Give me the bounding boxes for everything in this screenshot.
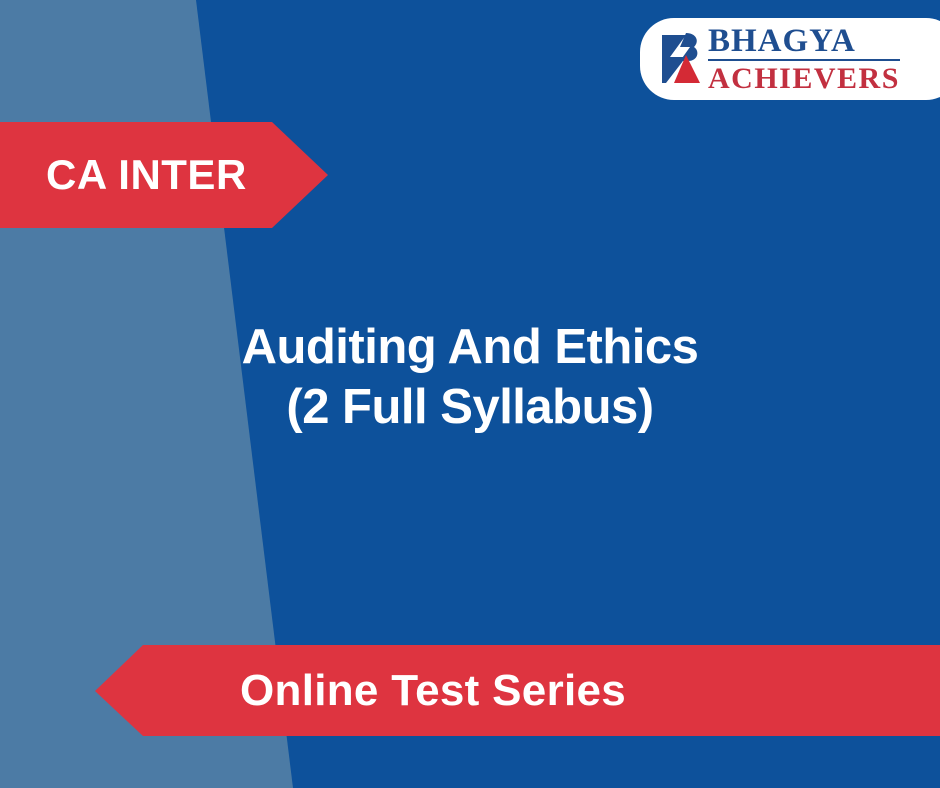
brand-logo: BHAGYA ACHIEVERS (640, 18, 940, 100)
brand-name-secondary: ACHIEVERS (708, 64, 900, 94)
page-title-line-2: (2 Full Syllabus) (180, 378, 760, 438)
product-type-label: Online Test Series (95, 666, 626, 716)
bhagya-achievers-monogram-icon (656, 31, 704, 87)
course-level-ribbon: CA INTER (0, 122, 328, 228)
brand-name-primary: BHAGYA (708, 25, 900, 61)
page-title: Auditing And Ethics (2 Full Syllabus) (180, 318, 760, 438)
brand-wordmark: BHAGYA ACHIEVERS (708, 25, 900, 94)
course-poster: BHAGYA ACHIEVERS CA INTER Auditing And E… (0, 0, 940, 788)
product-type-ribbon: Online Test Series (95, 645, 940, 736)
course-level-label: CA INTER (0, 151, 247, 199)
page-title-line-1: Auditing And Ethics (180, 318, 760, 378)
